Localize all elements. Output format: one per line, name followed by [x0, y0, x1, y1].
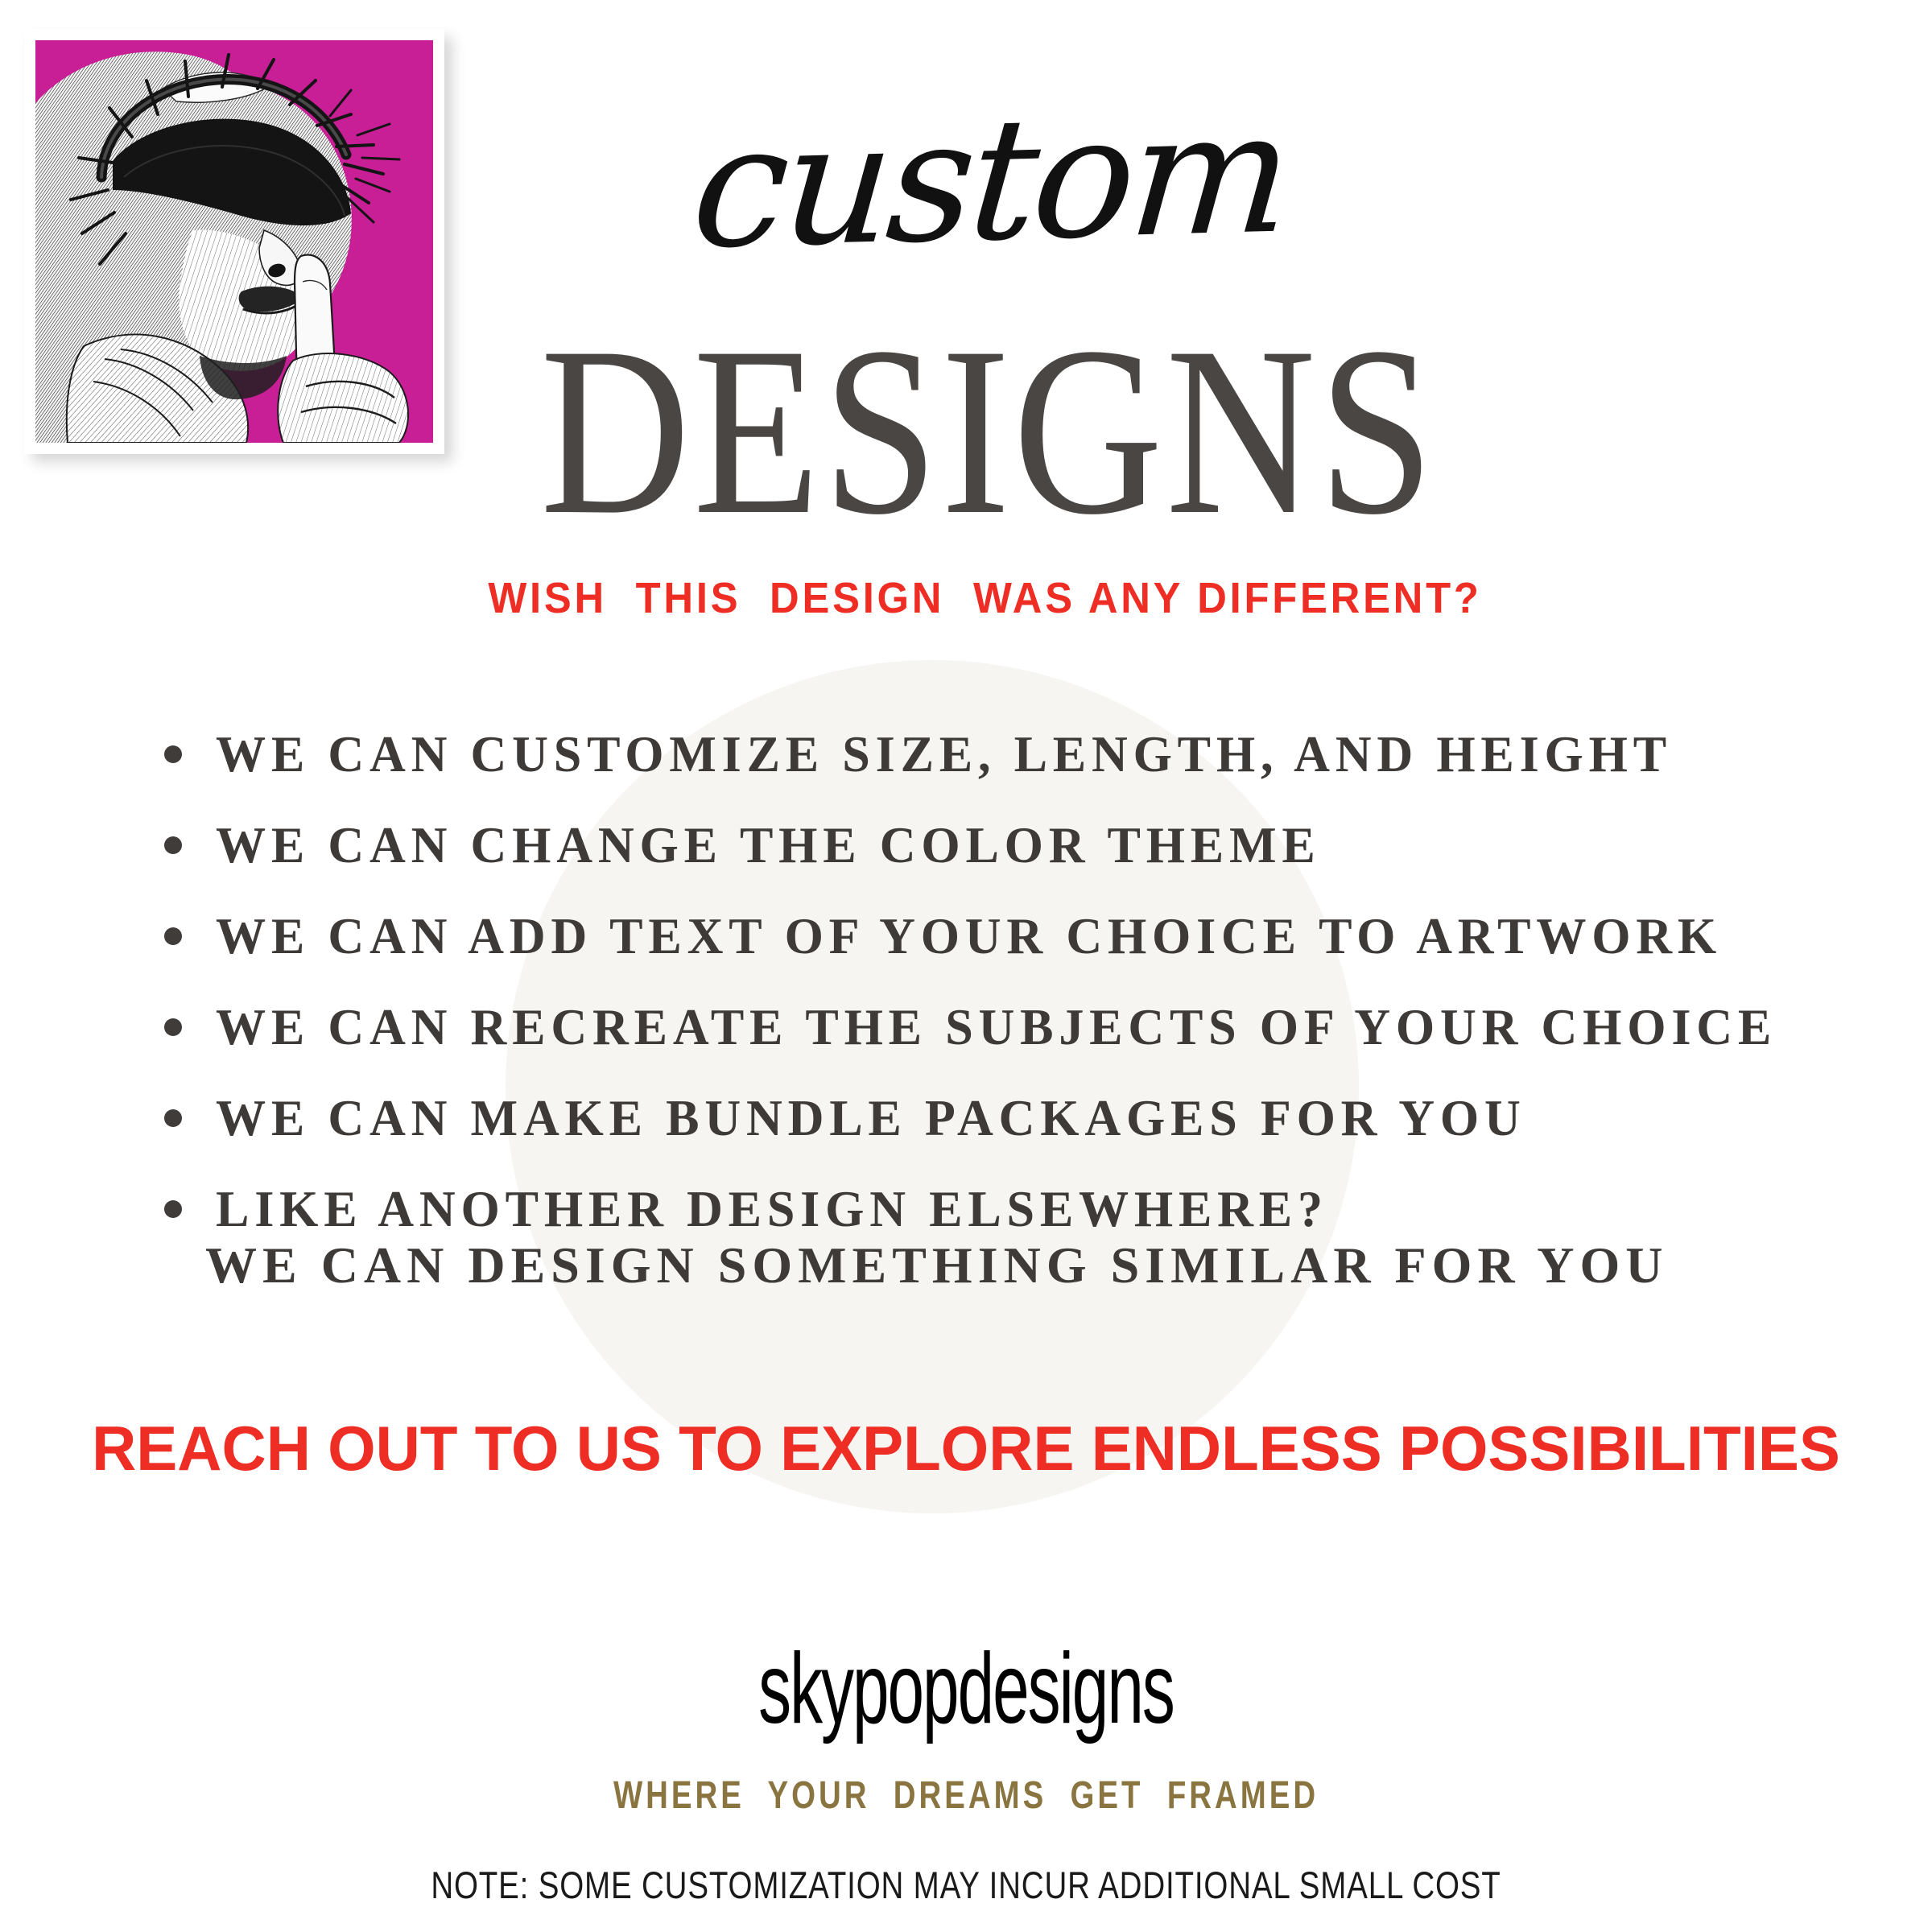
feature-continuation-label: WE CAN DESIGN SOMETHING SIMILAR FOR YOU — [0, 1240, 1932, 1291]
feature-label: WE CAN RECREATE THE SUBJECTS OF YOUR CHO… — [216, 1001, 1777, 1053]
brand-tagline: WHERE YOUR DREAMS GET FRAMED — [193, 1777, 1739, 1815]
feature-label: WE CAN CUSTOMIZE SIZE, LENGTH, AND HEIGH… — [216, 729, 1672, 780]
call-to-action-text: REACH OUT TO US TO EXPLORE ENDLESS POSSI… — [19, 1417, 1913, 1480]
bullet-dot-icon — [164, 1200, 182, 1218]
brand-logo-wordmark: skypopdesigns — [328, 1639, 1604, 1739]
custom-designs-poster: custom DESIGNS WISH THIS DESIGN WAS ANY … — [0, 0, 1932, 1932]
list-item: WE CAN RECREATE THE SUBJECTS OF YOUR CHO… — [0, 981, 1932, 1072]
blindfolded-figure-engraving-icon — [35, 40, 433, 443]
feature-list: WE CAN CUSTOMIZE SIZE, LENGTH, AND HEIGH… — [0, 708, 1932, 1254]
bullet-dot-icon — [164, 1109, 182, 1127]
subtitle-question: WISH THIS DESIGN WAS ANY DIFFERENT? — [58, 576, 1874, 620]
bullet-dot-icon — [164, 836, 182, 854]
feature-label: WE CAN CHANGE THE COLOR THEME — [216, 819, 1321, 871]
feature-label: LIKE ANOTHER DESIGN ELSEWHERE? — [216, 1183, 1328, 1235]
feature-label: WE CAN MAKE BUNDLE PACKAGES FOR YOU — [216, 1092, 1526, 1144]
bullet-dot-icon — [164, 745, 182, 763]
list-item: WE CAN CUSTOMIZE SIZE, LENGTH, AND HEIGH… — [0, 708, 1932, 799]
bullet-dot-icon — [164, 927, 182, 945]
footer-note: NOTE: SOME CUSTOMIZATION MAY INCUR ADDIT… — [174, 1866, 1758, 1904]
list-item: WE CAN MAKE BUNDLE PACKAGES FOR YOU — [0, 1072, 1932, 1163]
list-item: WE CAN CHANGE THE COLOR THEME — [0, 799, 1932, 890]
feature-label: WE CAN ADD TEXT OF YOUR CHOICE TO ARTWOR… — [216, 910, 1722, 962]
list-item: WE CAN ADD TEXT OF YOUR CHOICE TO ARTWOR… — [0, 890, 1932, 981]
artwork-thumbnail[interactable] — [24, 29, 444, 454]
bullet-dot-icon — [164, 1018, 182, 1036]
artwork-magenta-panel — [35, 40, 433, 443]
